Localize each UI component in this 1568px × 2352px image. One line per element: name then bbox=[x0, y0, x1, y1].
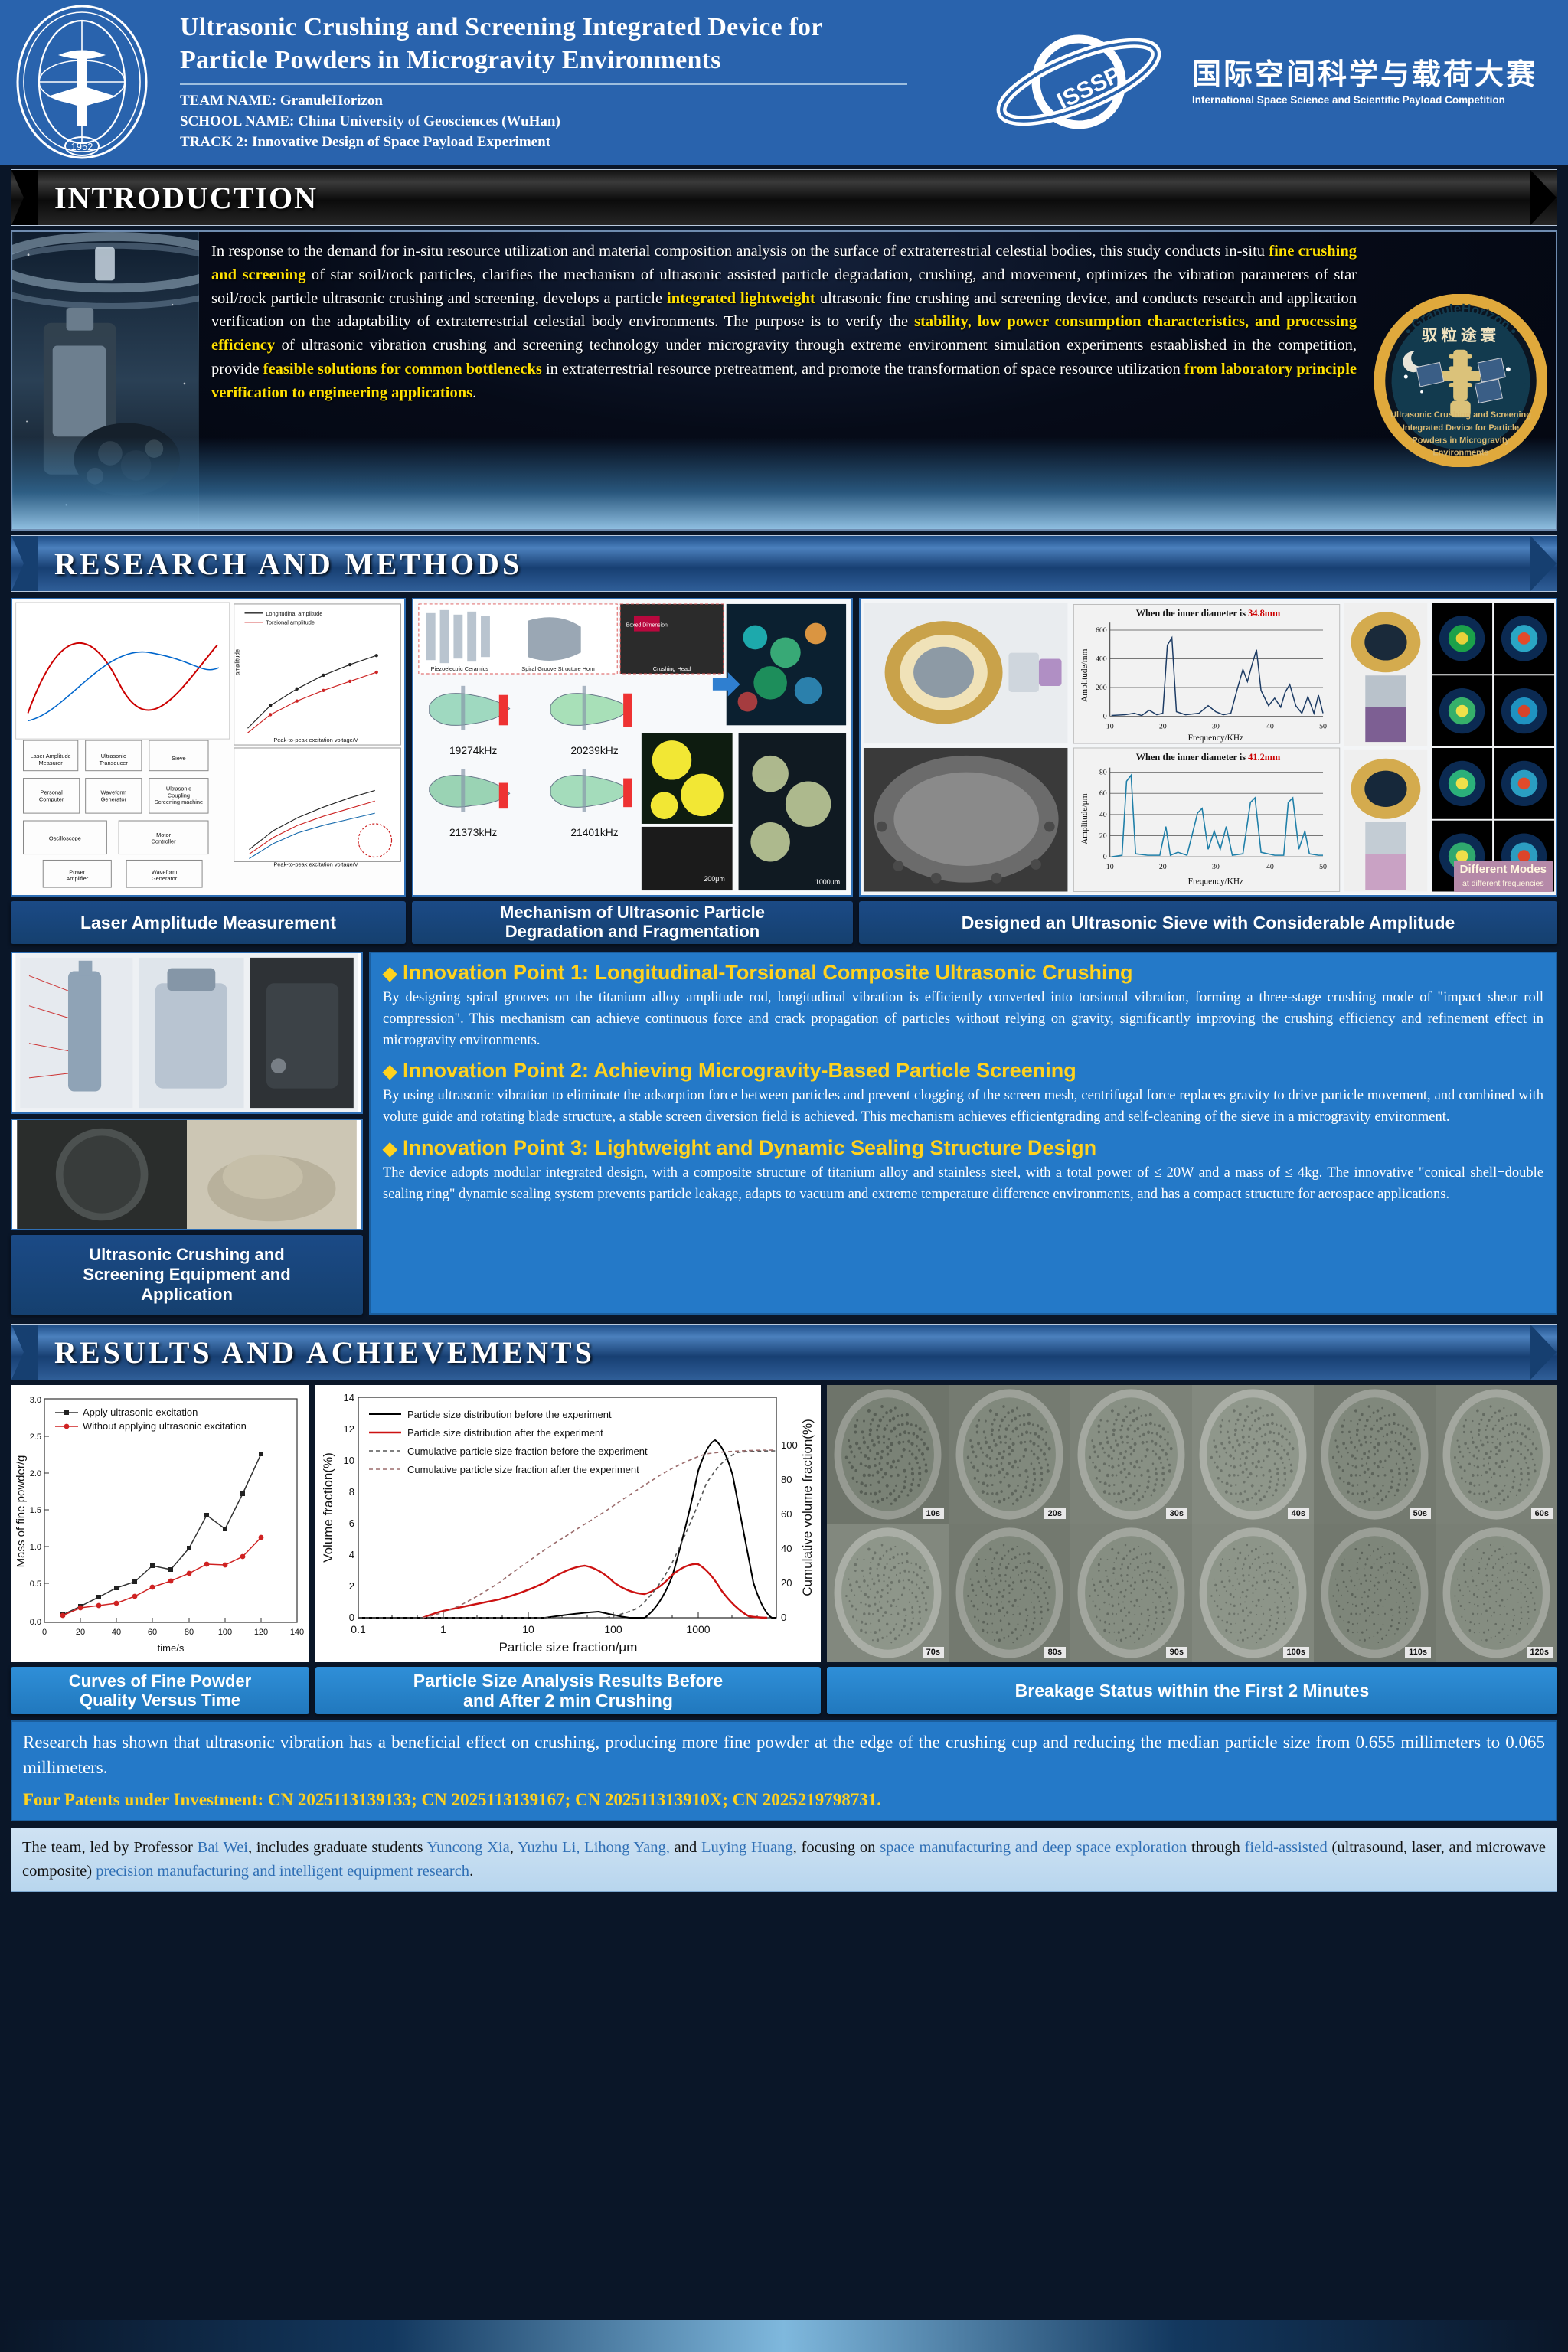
svg-text:10: 10 bbox=[1106, 722, 1114, 730]
svg-text:0: 0 bbox=[1103, 853, 1107, 861]
svg-text:200: 200 bbox=[1096, 684, 1107, 692]
svg-text:Coupling: Coupling bbox=[168, 792, 190, 799]
fig3-chartB-title: When the inner diameter is bbox=[1136, 752, 1248, 763]
svg-text:20: 20 bbox=[1159, 863, 1167, 871]
svg-text:驭粒途寰: 驭粒途寰 bbox=[1422, 326, 1500, 345]
svg-text:Laser Amplitude: Laser Amplitude bbox=[31, 753, 71, 759]
chart2-legend-2: Particle size distribution after the exp… bbox=[407, 1427, 603, 1439]
poster-header: 1952 Ultrasonic Crushing and Screening I… bbox=[0, 0, 1568, 165]
fig3-chartB-ylabel: Amplitude/μm bbox=[1080, 793, 1089, 844]
svg-text:140: 140 bbox=[290, 1628, 304, 1637]
fig3-chartA-title: When the inner diameter is bbox=[1136, 608, 1248, 619]
fig2-label-head: Crushing Head bbox=[653, 665, 691, 672]
svg-text:Ultrasonic: Ultrasonic bbox=[166, 785, 191, 792]
breakage-time-label: 90s bbox=[1166, 1647, 1187, 1658]
team-student-1: Yuncong Xia bbox=[427, 1839, 510, 1856]
svg-text:0: 0 bbox=[1103, 712, 1107, 720]
competition-logo-group: ISSSP 国际空间科学与载荷大赛 International Space Sc… bbox=[988, 11, 1568, 153]
svg-text:3.0: 3.0 bbox=[30, 1396, 41, 1405]
intro-highlight-2: integrated lightweight bbox=[667, 290, 815, 307]
chart1-ylabel: Mass of fine powder/g bbox=[15, 1455, 28, 1568]
svg-text:6: 6 bbox=[349, 1517, 354, 1529]
innovation-row: Ultrasonic Crushing and Screening Equipm… bbox=[11, 952, 1557, 1315]
caption-fine-powder-line2: Quality Versus Time bbox=[80, 1690, 240, 1710]
svg-text:Generator: Generator bbox=[101, 795, 127, 802]
breakage-time-label: 80s bbox=[1044, 1647, 1066, 1658]
fig3-chartB-value: 41.2mm bbox=[1248, 752, 1281, 763]
team-t8: . bbox=[469, 1863, 473, 1880]
svg-text:12: 12 bbox=[344, 1423, 354, 1435]
chart-particle-size-distribution: 1412108 6420 1008060 40200 0.1110 100100… bbox=[315, 1385, 821, 1662]
svg-text:100: 100 bbox=[604, 1623, 622, 1635]
innovation-left-column: Ultrasonic Crushing and Screening Equipm… bbox=[11, 952, 363, 1315]
svg-text:Waveform: Waveform bbox=[152, 868, 177, 875]
breakage-time-label: 40s bbox=[1288, 1508, 1309, 1519]
team-focus-3: precision manufacturing and intelligent … bbox=[96, 1863, 469, 1880]
breakage-cell: 100s bbox=[1192, 1524, 1314, 1662]
svg-text:Screening machine: Screening machine bbox=[155, 799, 203, 805]
breakage-cell: 20s bbox=[949, 1385, 1070, 1524]
caption-equipment-line1: Ultrasonic Crushing and bbox=[89, 1245, 284, 1265]
poster-title-line2: Particle Powders in Microgravity Environ… bbox=[180, 44, 988, 77]
breakage-cell: 60s bbox=[1436, 1385, 1557, 1524]
svg-text:Motor: Motor bbox=[156, 831, 171, 838]
team-badge: • GranuleHorizon • INTERNATIONAL SPACE S… bbox=[1366, 232, 1556, 529]
breakage-time-label: 70s bbox=[923, 1647, 944, 1658]
svg-text:1.0: 1.0 bbox=[30, 1543, 41, 1552]
fig2-label-piezo: Piezoelectric Ceramics bbox=[431, 665, 489, 672]
caption-ultrasonic-sieve-text: Designed an Ultrasonic Sieve with Consid… bbox=[962, 913, 1455, 933]
fig2-label-boxed: Boxed Dimension bbox=[626, 623, 668, 629]
svg-text:30: 30 bbox=[1212, 863, 1220, 871]
chart2-legend-4: Cumulative particle size fraction after … bbox=[407, 1464, 639, 1475]
svg-text:0: 0 bbox=[349, 1612, 354, 1623]
svg-text:Amplifier: Amplifier bbox=[66, 875, 88, 882]
figure-laser-amplitude: Laser AmplitudeMeasurer UltrasonicTransd… bbox=[11, 598, 406, 897]
breakage-cell: 80s bbox=[949, 1524, 1070, 1662]
svg-text:Oscilloscope: Oscilloscope bbox=[49, 835, 81, 842]
svg-text:40: 40 bbox=[112, 1628, 121, 1637]
svg-text:0.5: 0.5 bbox=[30, 1579, 41, 1589]
team-t2: , includes graduate students bbox=[248, 1839, 427, 1856]
svg-text:Controller: Controller bbox=[152, 838, 177, 845]
caption-equipment-line3: Application bbox=[141, 1285, 233, 1305]
caption-laser-amplitude: Laser Amplitude Measurement bbox=[11, 901, 406, 944]
svg-text:20: 20 bbox=[781, 1577, 792, 1589]
isssp-planet-icon: ISSSP bbox=[988, 11, 1180, 153]
svg-text:30: 30 bbox=[1212, 722, 1220, 730]
svg-text:0: 0 bbox=[781, 1612, 786, 1623]
team-student-4: Luying Huang bbox=[701, 1839, 793, 1856]
fig2-mode-2: 20239kHz bbox=[570, 744, 618, 756]
chart1-xlabel: time/s bbox=[158, 1642, 185, 1654]
chart2-ylabel: Volume fraction(%) bbox=[321, 1452, 335, 1563]
team-t3: , bbox=[510, 1839, 518, 1856]
svg-text:Ultrasonic: Ultrasonic bbox=[101, 753, 126, 759]
university-logo: 1952 bbox=[0, 0, 165, 165]
chart2-legend-1: Particle size distribution before the ex… bbox=[407, 1409, 612, 1420]
svg-text:Integrated Device for Particle: Integrated Device for Particle bbox=[1403, 423, 1519, 433]
svg-text:4: 4 bbox=[349, 1549, 354, 1560]
svg-text:120: 120 bbox=[254, 1628, 268, 1637]
svg-text:20: 20 bbox=[1159, 722, 1167, 730]
svg-text:8: 8 bbox=[349, 1486, 354, 1498]
breakage-cell: 50s bbox=[1314, 1385, 1436, 1524]
team-t6: through bbox=[1187, 1839, 1244, 1856]
team-t4: and bbox=[670, 1839, 701, 1856]
breakage-cell: 40s bbox=[1192, 1385, 1314, 1524]
title-divider bbox=[180, 83, 907, 85]
fig1-legend-torsional: Torsional amplitude bbox=[266, 619, 315, 626]
breakage-cell: 30s bbox=[1070, 1385, 1192, 1524]
svg-text:10: 10 bbox=[344, 1455, 354, 1466]
svg-text:80: 80 bbox=[1099, 769, 1107, 777]
svg-text:100: 100 bbox=[781, 1439, 798, 1451]
figure-ultrasonic-sieve: When the inner diameter is 34.8mm 600400… bbox=[859, 598, 1557, 897]
team-students-2-3: Yuzhu Li, Lihong Yang, bbox=[518, 1839, 670, 1856]
chart2-y2label: Cumulative volume fraction(%) bbox=[800, 1419, 815, 1596]
breakage-cell: 10s bbox=[827, 1385, 949, 1524]
diamond-bullet-icon: ◆ bbox=[383, 1138, 397, 1159]
svg-text:amplitude: amplitude bbox=[234, 648, 241, 675]
chart-fine-powder-vs-time: 3.02.52.0 1.51.00.50.0 0204060 801001201… bbox=[11, 1385, 309, 1662]
breakage-cell: 110s bbox=[1314, 1524, 1436, 1662]
svg-text:40: 40 bbox=[781, 1543, 792, 1554]
svg-text:40: 40 bbox=[1099, 811, 1107, 819]
device-photo bbox=[12, 232, 199, 529]
innovation-point-1-title-text: Innovation Point 1: Longitudinal-Torsion… bbox=[403, 961, 1133, 984]
team-t5: , focusing on bbox=[793, 1839, 880, 1856]
caption-equipment-application: Ultrasonic Crushing and Screening Equipm… bbox=[11, 1235, 363, 1315]
innovation-point-2-title: ◆ Innovation Point 2: Achieving Microgra… bbox=[383, 1059, 1543, 1083]
svg-text:2: 2 bbox=[349, 1580, 354, 1592]
caption-degradation-line1: Mechanism of Ultrasonic Particle bbox=[500, 903, 765, 923]
caption-breakage-grid-text: Breakage Status within the First 2 Minut… bbox=[1015, 1681, 1370, 1701]
competition-name-cn: 国际空间科学与载荷大赛 bbox=[1192, 59, 1537, 91]
svg-text:20: 20 bbox=[76, 1628, 85, 1637]
competition-name-en: International Space Science and Scientif… bbox=[1192, 94, 1537, 106]
svg-text:40: 40 bbox=[1266, 863, 1274, 871]
svg-text:10: 10 bbox=[522, 1623, 534, 1635]
intro-p6: . bbox=[472, 384, 476, 401]
breakage-cell: 120s bbox=[1436, 1524, 1557, 1662]
intro-p5: in extraterrestrial resource pretreatmen… bbox=[542, 361, 1184, 377]
team-name: TEAM NAME: GranuleHorizon bbox=[180, 91, 988, 112]
breakage-time-label: 50s bbox=[1410, 1508, 1431, 1519]
svg-text:0.0: 0.0 bbox=[30, 1618, 41, 1627]
team-focus-2: field-assisted bbox=[1245, 1839, 1328, 1856]
team-professor-name: Bai Wei bbox=[198, 1839, 248, 1856]
breakage-cell: 90s bbox=[1070, 1524, 1192, 1662]
track-name: TRACK 2: Innovative Design of Space Payl… bbox=[180, 132, 988, 153]
svg-text:10: 10 bbox=[1106, 863, 1114, 871]
breakage-time-label: 110s bbox=[1405, 1647, 1431, 1658]
svg-text:60: 60 bbox=[781, 1508, 792, 1520]
svg-text:Waveform: Waveform bbox=[101, 789, 126, 795]
svg-text:Power: Power bbox=[69, 868, 86, 875]
svg-text:14: 14 bbox=[344, 1392, 354, 1403]
fig2-mode-4: 21401kHz bbox=[570, 826, 618, 838]
photo-equipment-assembly bbox=[11, 952, 363, 1114]
intro-highlight-4: feasible solutions for common bottleneck… bbox=[263, 361, 542, 377]
section-title-research: RESEARCH AND METHODS bbox=[11, 546, 522, 582]
chart2-xlabel: Particle size fraction/μm bbox=[499, 1640, 638, 1655]
svg-text:Computer: Computer bbox=[39, 795, 64, 802]
caption-particle-size-line2: and After 2 min Crushing bbox=[463, 1690, 673, 1710]
section-header-results: RESULTS AND ACHIEVEMENTS bbox=[11, 1324, 1557, 1380]
breakage-time-label: 20s bbox=[1044, 1508, 1066, 1519]
svg-text:80: 80 bbox=[185, 1628, 194, 1637]
svg-text:40: 40 bbox=[1266, 722, 1274, 730]
caption-particle-size-chart: Particle Size Analysis Results Before an… bbox=[315, 1667, 821, 1714]
svg-text:2.0: 2.0 bbox=[30, 1469, 41, 1478]
svg-text:Transducer: Transducer bbox=[100, 759, 129, 766]
svg-text:50: 50 bbox=[1319, 722, 1327, 730]
intro-p1: In response to the demand for in-situ re… bbox=[211, 243, 1269, 260]
innovation-point-2-title-text: Innovation Point 2: Achieving Microgravi… bbox=[403, 1059, 1076, 1082]
fig3-chartA-ylabel: Amplitude/mm bbox=[1080, 648, 1089, 701]
school-name: SCHOOL NAME: China University of Geoscie… bbox=[180, 112, 988, 132]
svg-text:Ultrasonic Crushing and Screen: Ultrasonic Crushing and Screening bbox=[1390, 410, 1531, 420]
conclusion-text: Research has shown that ultrasonic vibra… bbox=[23, 1730, 1545, 1781]
fig3-chartA-value: 34.8mm bbox=[1248, 608, 1281, 619]
diamond-bullet-icon: ◆ bbox=[383, 1061, 397, 1082]
innovation-point-3-body: The device adopts modular integrated des… bbox=[383, 1163, 1543, 1206]
different-modes-subtitle: at different frequencies bbox=[1462, 879, 1544, 888]
section-header-research: RESEARCH AND METHODS bbox=[11, 535, 1557, 592]
figure-degradation-mechanism: Piezoelectric Ceramics Spiral Groove Str… bbox=[412, 598, 853, 897]
fig3-chartA-xlabel: Frequency/KHz bbox=[1188, 733, 1243, 743]
caption-degradation-line2: Degradation and Fragmentation bbox=[505, 923, 759, 942]
svg-text:600: 600 bbox=[1096, 626, 1107, 635]
breakage-time-label: 120s bbox=[1527, 1647, 1553, 1658]
breakage-time-label: 30s bbox=[1166, 1508, 1187, 1519]
fig3-chartB-xlabel: Frequency/KHz bbox=[1188, 877, 1243, 887]
caption-laser-amplitude-text: Laser Amplitude Measurement bbox=[80, 913, 336, 933]
caption-ultrasonic-sieve: Designed an Ultrasonic Sieve with Consid… bbox=[859, 901, 1557, 944]
fig2-label-horn: Spiral Groove Structure Horn bbox=[521, 665, 595, 672]
svg-text:Sieve: Sieve bbox=[171, 755, 186, 762]
different-modes-title: Different Modes bbox=[1460, 863, 1547, 876]
conclusion-panel: Research has shown that ultrasonic vibra… bbox=[11, 1720, 1557, 1821]
caption-particle-size-line1: Particle Size Analysis Results Before bbox=[413, 1671, 723, 1690]
caption-fine-powder-line1: Curves of Fine Powder bbox=[69, 1671, 251, 1690]
results-figure-row: 3.02.52.0 1.51.00.50.0 0204060 801001201… bbox=[11, 1385, 1557, 1714]
svg-text:80: 80 bbox=[781, 1474, 792, 1485]
introduction-body: In response to the demand for in-situ re… bbox=[199, 232, 1366, 529]
fig2-scale-b: 1000μm bbox=[815, 878, 840, 886]
svg-text:When the inner diameter is 34.: When the inner diameter is 34.8mm bbox=[1136, 608, 1281, 619]
svg-text:Peak-to-peak excitation voltag: Peak-to-peak excitation voltage/V bbox=[273, 737, 358, 743]
innovation-point-3-title-text: Innovation Point 3: Lightweight and Dyna… bbox=[403, 1136, 1096, 1159]
diamond-bullet-icon: ◆ bbox=[383, 963, 397, 984]
svg-text:1952: 1952 bbox=[71, 141, 93, 152]
introduction-panel: In response to the demand for in-situ re… bbox=[11, 230, 1557, 531]
section-header-introduction: INTRODUCTION bbox=[11, 169, 1557, 226]
svg-text:Peak-to-peak excitation voltag: Peak-to-peak excitation voltage/V bbox=[273, 861, 358, 867]
svg-text:50: 50 bbox=[1319, 863, 1327, 871]
breakage-time-label: 10s bbox=[923, 1508, 944, 1519]
svg-text:When the inner diameter is 41.: When the inner diameter is 41.2mm bbox=[1136, 752, 1281, 763]
innovation-point-1-body: By designing spiral grooves on the titan… bbox=[383, 988, 1543, 1051]
innovation-point-3-title: ◆ Innovation Point 3: Lightweight and Dy… bbox=[383, 1136, 1543, 1160]
caption-equipment-line2: Screening Equipment and bbox=[83, 1265, 290, 1285]
caption-degradation-mechanism: Mechanism of Ultrasonic Particle Degrada… bbox=[412, 901, 853, 944]
svg-text:Personal: Personal bbox=[41, 789, 64, 795]
team-t1: The team, led by Professor bbox=[22, 1839, 198, 1856]
svg-text:60: 60 bbox=[148, 1628, 157, 1637]
svg-text:60: 60 bbox=[1099, 789, 1107, 798]
innovation-point-1-title: ◆ Innovation Point 1: Longitudinal-Torsi… bbox=[383, 961, 1543, 985]
footer-strip bbox=[0, 2320, 1568, 2352]
svg-text:2.5: 2.5 bbox=[30, 1432, 41, 1442]
svg-text:100: 100 bbox=[218, 1628, 232, 1637]
photo-powder-samples bbox=[11, 1119, 363, 1230]
svg-text:0: 0 bbox=[42, 1628, 47, 1637]
breakage-image-grid: 10s 20s 30s 40s 50s 60s 70s 80s 90s 100s… bbox=[827, 1385, 1557, 1662]
svg-text:0.1: 0.1 bbox=[351, 1623, 366, 1635]
section-title-results: RESULTS AND ACHIEVEMENTS bbox=[11, 1334, 595, 1370]
different-modes-tag: Different Modes at different frequencies bbox=[1454, 861, 1553, 892]
svg-text:Generator: Generator bbox=[152, 875, 178, 882]
svg-text:20: 20 bbox=[1099, 831, 1107, 840]
chart1-legend-with: Apply ultrasonic excitation bbox=[83, 1406, 198, 1418]
patents-text: Four Patents under Investment: CN 202511… bbox=[23, 1787, 1545, 1812]
innovation-point-2-body: By using ultrasonic vibration to elimina… bbox=[383, 1086, 1543, 1129]
research-figure-row: Laser AmplitudeMeasurer UltrasonicTransd… bbox=[11, 598, 1557, 944]
team-panel: The team, led by Professor Bai Wei, incl… bbox=[11, 1828, 1557, 1892]
svg-text:1000: 1000 bbox=[686, 1623, 710, 1635]
innovation-points-panel: ◆ Innovation Point 1: Longitudinal-Torsi… bbox=[369, 952, 1557, 1315]
breakage-time-label: 60s bbox=[1531, 1508, 1553, 1519]
fig2-scale-a: 200μm bbox=[704, 875, 724, 883]
svg-text:Powders in Microgravity: Powders in Microgravity bbox=[1412, 436, 1510, 446]
svg-text:1: 1 bbox=[440, 1623, 446, 1635]
caption-fine-powder-chart: Curves of Fine Powder Quality Versus Tim… bbox=[11, 1667, 309, 1714]
caption-breakage-grid: Breakage Status within the First 2 Minut… bbox=[827, 1667, 1557, 1714]
team-focus-1: space manufacturing and deep space explo… bbox=[880, 1839, 1187, 1856]
poster-title-line1: Ultrasonic Crushing and Screening Integr… bbox=[180, 11, 988, 44]
svg-text:400: 400 bbox=[1096, 655, 1107, 663]
header-title-group: Ultrasonic Crushing and Screening Integr… bbox=[165, 11, 988, 153]
breakage-cell: 70s bbox=[827, 1524, 949, 1662]
svg-text:Measurer: Measurer bbox=[38, 759, 63, 766]
fig1-legend-longitudinal: Longitudinal amplitude bbox=[266, 610, 322, 617]
chart1-legend-without: Without applying ultrasonic excitation bbox=[83, 1420, 247, 1432]
svg-text:1.5: 1.5 bbox=[30, 1506, 41, 1515]
fig2-mode-1: 19274kHz bbox=[449, 744, 497, 756]
chart2-legend-3: Cumulative particle size fraction before… bbox=[407, 1445, 648, 1457]
breakage-time-label: 100s bbox=[1283, 1647, 1309, 1658]
section-title-introduction: INTRODUCTION bbox=[11, 180, 318, 216]
fig2-mode-3: 21373kHz bbox=[449, 826, 497, 838]
svg-text:Environments: Environments bbox=[1432, 448, 1488, 457]
